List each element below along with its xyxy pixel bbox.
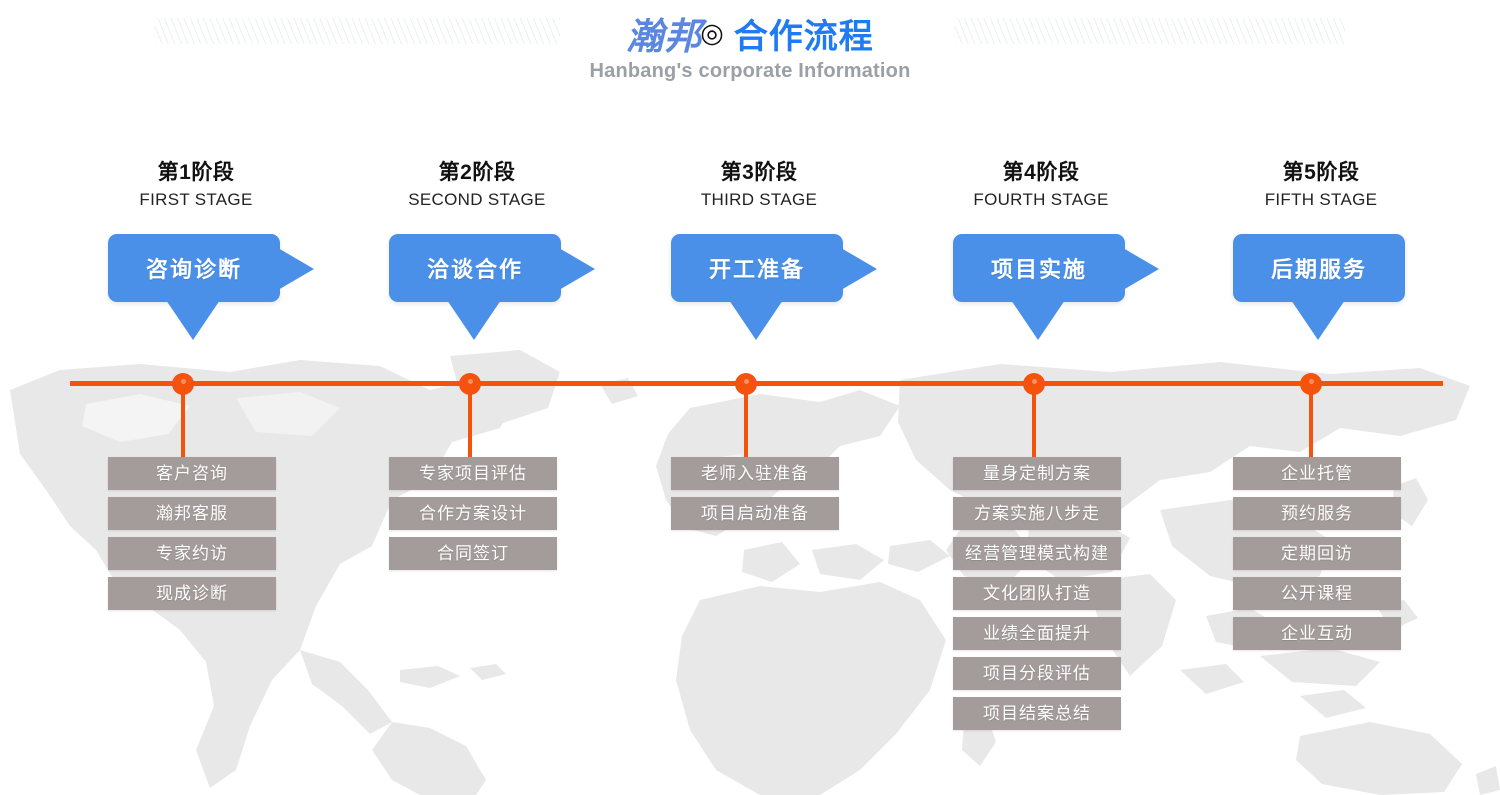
callout-pointer-icon [447,300,501,340]
stage-title-en: FOURTH STAGE [953,188,1129,212]
callout-pointer-icon [1291,300,1345,340]
stage-title-cn: 第5阶段 [1233,160,1409,186]
list-item[interactable]: 公开课程 [1233,577,1401,610]
stage-title-en: FIRST STAGE [108,188,284,212]
stage-item-list-2: 专家项目评估合作方案设计合同签订 [389,457,557,577]
stage-callout-button[interactable]: 项目实施 [953,234,1125,302]
callout-pointer-icon [1011,300,1065,340]
timeline-node-2[interactable] [459,373,481,395]
timeline-drop-line-4 [1032,390,1036,457]
stage-callout-wrapper: 开工准备 [671,234,847,354]
timeline-node-1[interactable] [172,373,194,395]
stage-callout-label: 后期服务 [1271,252,1367,284]
list-item[interactable]: 企业托管 [1233,457,1401,490]
timeline-node-3[interactable] [735,373,757,395]
stage-item-list-1: 客户咨询瀚邦客服专家约访现成诊断 [108,457,276,617]
stage-callout-wrapper: 咨询诊断 [108,234,284,354]
timeline-node-5[interactable] [1300,373,1322,395]
list-item[interactable]: 项目结案总结 [953,697,1121,730]
timeline-node-4[interactable] [1023,373,1045,395]
stage-item-list-3: 老师入驻准备项目启动准备 [671,457,839,537]
stage-callout-wrapper: 项目实施 [953,234,1129,354]
stage-callout-button[interactable]: 开工准备 [671,234,843,302]
list-item[interactable]: 瀚邦客服 [108,497,276,530]
stage-title-cn: 第2阶段 [389,160,565,186]
stage-columns: 第1阶段FIRST STAGE咨询诊断客户咨询瀚邦客服专家约访现成诊断第2阶段S… [0,0,1500,795]
stage-column-3: 第3阶段THIRD STAGE开工准备 [671,160,847,354]
stage-column-1: 第1阶段FIRST STAGE咨询诊断 [108,160,284,354]
timeline-drop-line-3 [744,390,748,457]
stage-callout-label: 项目实施 [991,252,1087,284]
next-stage-arrow-icon [841,248,877,290]
next-stage-arrow-icon [278,248,314,290]
list-item[interactable]: 现成诊断 [108,577,276,610]
timeline-drop-line-5 [1309,390,1313,457]
list-item[interactable]: 合作方案设计 [389,497,557,530]
stage-callout-button[interactable]: 咨询诊断 [108,234,280,302]
stage-callout-button[interactable]: 洽谈合作 [389,234,561,302]
list-item[interactable]: 项目分段评估 [953,657,1121,690]
stage-column-5: 第5阶段FIFTH STAGE后期服务 [1233,160,1409,354]
stage-title-cn: 第3阶段 [671,160,847,186]
stage-callout-label: 咨询诊断 [146,252,242,284]
list-item[interactable]: 文化团队打造 [953,577,1121,610]
stage-callout-button[interactable]: 后期服务 [1233,234,1405,302]
next-stage-arrow-icon [1123,248,1159,290]
list-item[interactable]: 专家约访 [108,537,276,570]
list-item[interactable]: 业绩全面提升 [953,617,1121,650]
stage-column-2: 第2阶段SECOND STAGE洽谈合作 [389,160,565,354]
stage-title-cn: 第1阶段 [108,160,284,186]
list-item[interactable]: 客户咨询 [108,457,276,490]
stage-callout-wrapper: 后期服务 [1233,234,1409,354]
stage-column-4: 第4阶段FOURTH STAGE项目实施 [953,160,1129,354]
infographic-canvas: 瀚邦◎合作流程 Hanbang's corporate Information … [0,0,1500,795]
stage-title-en: FIFTH STAGE [1233,188,1409,212]
list-item[interactable]: 企业互动 [1233,617,1401,650]
list-item[interactable]: 老师入驻准备 [671,457,839,490]
timeline-drop-line-1 [181,390,185,457]
list-item[interactable]: 专家项目评估 [389,457,557,490]
stage-item-list-5: 企业托管预约服务定期回访公开课程企业互动 [1233,457,1401,657]
list-item[interactable]: 量身定制方案 [953,457,1121,490]
stage-title-en: SECOND STAGE [389,188,565,212]
stage-callout-wrapper: 洽谈合作 [389,234,565,354]
list-item[interactable]: 预约服务 [1233,497,1401,530]
stage-callout-label: 洽谈合作 [427,252,523,284]
list-item[interactable]: 经营管理模式构建 [953,537,1121,570]
stage-callout-label: 开工准备 [709,252,805,284]
stage-title-cn: 第4阶段 [953,160,1129,186]
list-item[interactable]: 定期回访 [1233,537,1401,570]
list-item[interactable]: 项目启动准备 [671,497,839,530]
next-stage-arrow-icon [559,248,595,290]
list-item[interactable]: 合同签订 [389,537,557,570]
callout-pointer-icon [729,300,783,340]
stage-item-list-4: 量身定制方案方案实施八步走经营管理模式构建文化团队打造业绩全面提升项目分段评估项… [953,457,1121,737]
callout-pointer-icon [166,300,220,340]
list-item[interactable]: 方案实施八步走 [953,497,1121,530]
timeline-drop-line-2 [468,390,472,457]
stage-title-en: THIRD STAGE [671,188,847,212]
